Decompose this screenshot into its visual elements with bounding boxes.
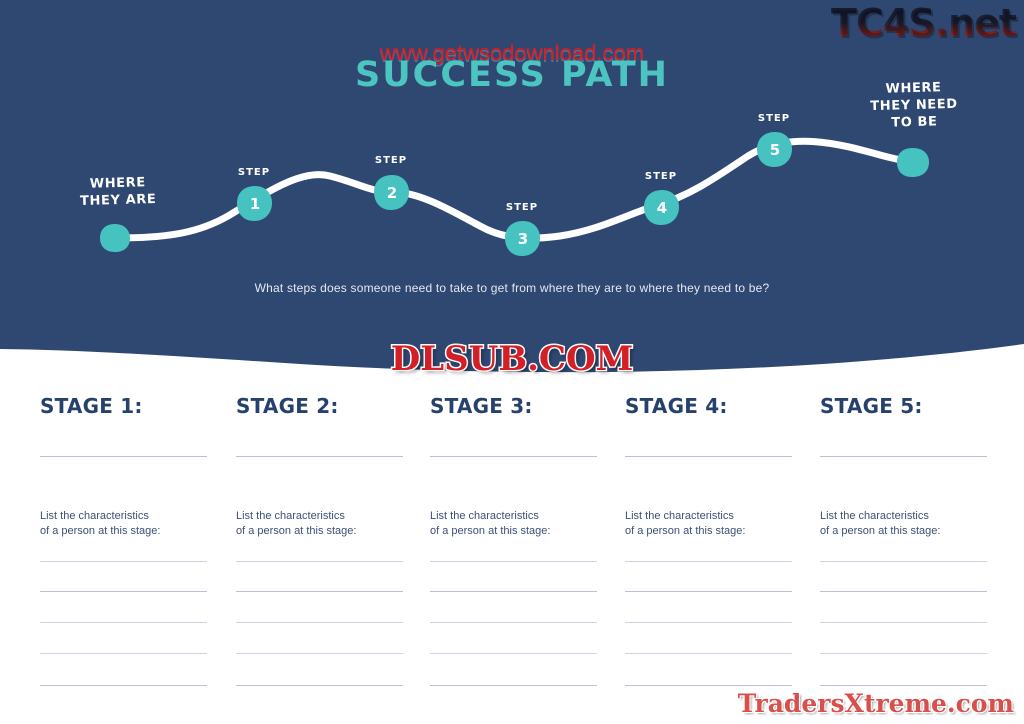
stage-columns: STAGE 1: List the characteristics of a p… bbox=[0, 396, 1024, 696]
step-number-2: 2 bbox=[377, 184, 407, 202]
stage-4-note-line2: of a person at this stage: bbox=[625, 524, 792, 539]
stage-5-note-line2: of a person at this stage: bbox=[820, 524, 987, 539]
stage-5-note: List the characteristics of a person at … bbox=[820, 509, 987, 539]
stage-1-write-line-1[interactable] bbox=[40, 561, 207, 562]
start-endpoint-label-line2: THEY ARE bbox=[72, 191, 164, 210]
stage-5-write-line-1[interactable] bbox=[820, 561, 987, 562]
worksheet-page: TC4S.net www.getwsodownload.com www.getw… bbox=[0, 0, 1024, 724]
stage-4-note: List the characteristics of a person at … bbox=[625, 509, 792, 539]
stage-4-write-line-1[interactable] bbox=[625, 561, 792, 562]
end-endpoint-label-line2: THEY NEED bbox=[855, 95, 973, 115]
stage-column-5: STAGE 5: List the characteristics of a p… bbox=[820, 396, 987, 686]
end-endpoint-label-line3: TO BE bbox=[855, 112, 973, 132]
step-number-1: 1 bbox=[240, 195, 270, 213]
stage-2-note: List the characteristics of a person at … bbox=[236, 509, 403, 539]
stage-1-write-line-3[interactable] bbox=[40, 622, 207, 623]
stage-1-note-line2: of a person at this stage: bbox=[40, 524, 207, 539]
stage-3-write-line-2[interactable] bbox=[430, 591, 597, 592]
stage-3-write-line-3[interactable] bbox=[430, 622, 597, 623]
step-caption-1: STEP bbox=[229, 167, 279, 178]
stage-1-title-rule bbox=[40, 456, 207, 457]
stage-title-5: STAGE 5: bbox=[820, 396, 987, 416]
end-endpoint-label: WHERE THEY NEED TO BE bbox=[854, 78, 973, 132]
stage-4-write-line-5[interactable] bbox=[625, 685, 792, 686]
stage-title-4: STAGE 4: bbox=[625, 396, 792, 416]
stage-3-note: List the characteristics of a person at … bbox=[430, 509, 597, 539]
stage-5-title-rule bbox=[820, 456, 987, 457]
stage-title-2: STAGE 2: bbox=[236, 396, 403, 416]
stage-4-write-line-3[interactable] bbox=[625, 622, 792, 623]
step-caption-4: STEP bbox=[636, 171, 686, 182]
step-number-3: 3 bbox=[508, 230, 538, 248]
step-caption-3: STEP bbox=[497, 202, 547, 213]
stage-3-note-line1: List the characteristics bbox=[430, 509, 597, 524]
start-blob bbox=[100, 224, 130, 252]
stage-column-3: STAGE 3: List the characteristics of a p… bbox=[430, 396, 597, 686]
stage-2-write-line-4[interactable] bbox=[236, 653, 403, 654]
stage-title-3: STAGE 3: bbox=[430, 396, 597, 416]
step-caption-2: STEP bbox=[366, 155, 416, 166]
stage-2-write-line-2[interactable] bbox=[236, 591, 403, 592]
stage-5-write-line-3[interactable] bbox=[820, 622, 987, 623]
stage-1-write-line-2[interactable] bbox=[40, 591, 207, 592]
stage-2-note-line1: List the characteristics bbox=[236, 509, 403, 524]
stage-5-write-line-4[interactable] bbox=[820, 653, 987, 654]
stage-3-write-line-1[interactable] bbox=[430, 561, 597, 562]
stage-4-note-line1: List the characteristics bbox=[625, 509, 792, 524]
prompt-question: What steps does someone need to take to … bbox=[0, 281, 1024, 295]
stage-1-write-line-4[interactable] bbox=[40, 653, 207, 654]
start-endpoint-label: WHERE THEY ARE bbox=[72, 174, 165, 210]
stage-3-write-line-4[interactable] bbox=[430, 653, 597, 654]
stage-3-note-line2: of a person at this stage: bbox=[430, 524, 597, 539]
end-blob bbox=[897, 148, 929, 177]
stage-2-write-line-1[interactable] bbox=[236, 561, 403, 562]
stage-2-title-rule bbox=[236, 456, 403, 457]
stage-4-write-line-2[interactable] bbox=[625, 591, 792, 592]
step-caption-5: STEP bbox=[749, 113, 799, 124]
stage-2-write-line-3[interactable] bbox=[236, 622, 403, 623]
watermark-tradersxtreme: TradersXtreme.com bbox=[738, 689, 1014, 718]
stage-3-title-rule bbox=[430, 456, 597, 457]
stage-4-title-rule bbox=[625, 456, 792, 457]
stage-title-1: STAGE 1: bbox=[40, 396, 207, 416]
stage-1-write-line-5[interactable] bbox=[40, 685, 207, 686]
stage-2-note-line2: of a person at this stage: bbox=[236, 524, 403, 539]
stage-5-note-line1: List the characteristics bbox=[820, 509, 987, 524]
stage-1-note-line1: List the characteristics bbox=[40, 509, 207, 524]
stage-1-note: List the characteristics of a person at … bbox=[40, 509, 207, 539]
step-number-4: 4 bbox=[647, 199, 677, 217]
stage-3-write-line-5[interactable] bbox=[430, 685, 597, 686]
stage-2-write-line-5[interactable] bbox=[236, 685, 403, 686]
stage-column-2: STAGE 2: List the characteristics of a p… bbox=[236, 396, 403, 686]
step-number-5: 5 bbox=[760, 141, 790, 159]
stage-column-4: STAGE 4: List the characteristics of a p… bbox=[625, 396, 792, 686]
stage-5-write-line-2[interactable] bbox=[820, 591, 987, 592]
stage-4-write-line-4[interactable] bbox=[625, 653, 792, 654]
stage-column-1: STAGE 1: List the characteristics of a p… bbox=[40, 396, 207, 686]
stage-5-write-line-5[interactable] bbox=[820, 685, 987, 686]
